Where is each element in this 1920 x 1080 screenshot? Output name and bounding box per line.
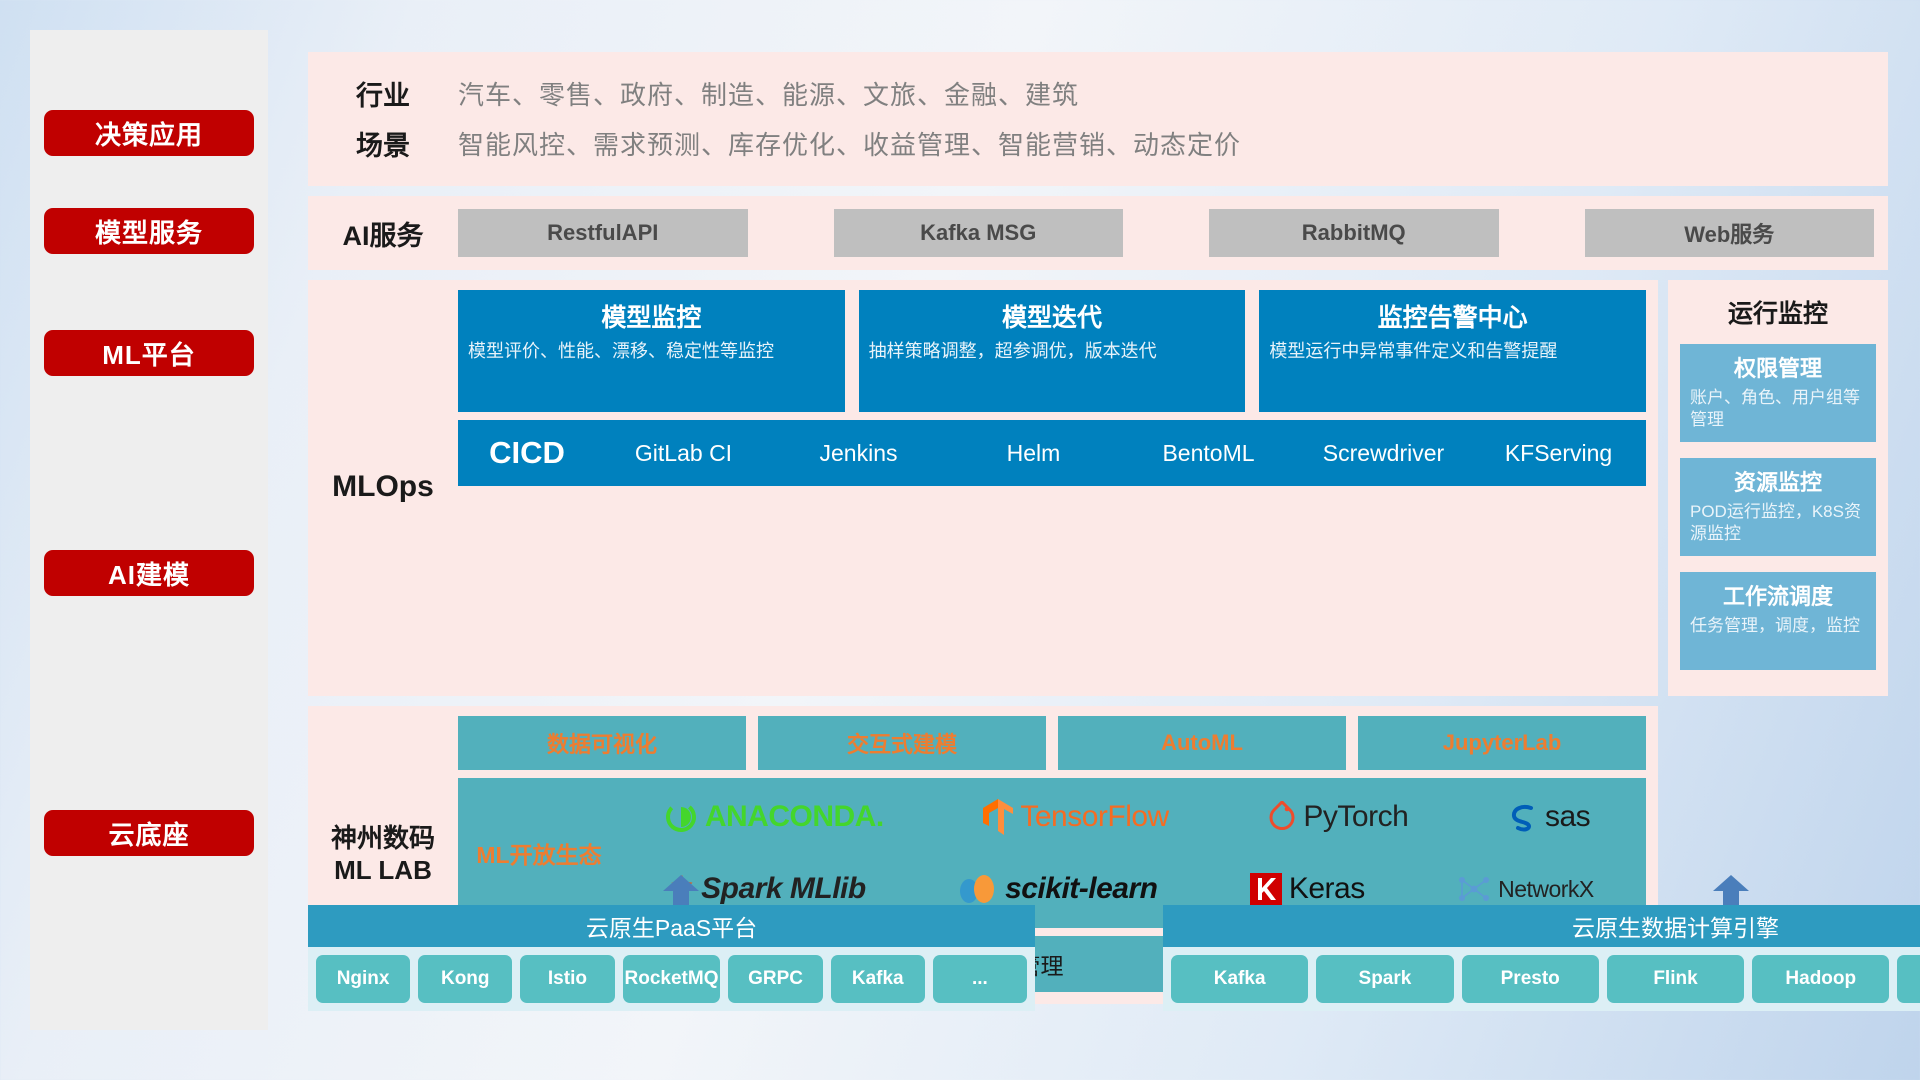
rail-item-ai-modeling[interactable]: AI建模 [44,550,254,596]
mlops-card-list: 模型监控 模型评价、性能、漂移、稳定性等监控 模型迭代 抽样策略调整，超参调优，… [458,290,1646,412]
mlops-title: MLOps [308,290,458,684]
keras-wordmark: Keras [1289,872,1365,906]
left-rail: 决策应用 模型服务 ML平台 AI建模 云底座 [30,30,268,1030]
mlops-card-title: 模型监控 [468,298,835,334]
sas-wordmark: sas [1545,800,1590,834]
paas-chip-more[interactable]: ... [933,955,1027,1003]
ecosystem-logo-row-1: ANACONDA. TensorFlow PyTorch [614,783,1640,851]
cloud-native-paas-title: 云原生PaaS平台 [308,905,1035,947]
paas-chip-kafka[interactable]: Kafka [831,955,925,1003]
scikit-learn-icon [958,872,998,906]
cicd-item-kfserving[interactable]: KFServing [1471,441,1646,465]
keras-icon [1250,873,1282,905]
monitor-card-title: 工作流调度 [1690,579,1866,611]
cicd-label: CICD [458,435,596,471]
anaconda-icon [664,800,698,834]
mlops-card-alert-center[interactable]: 监控告警中心 模型运行中异常事件定义和告警提醒 [1259,290,1646,412]
sas-icon [1508,802,1538,832]
paas-chip-istio[interactable]: Istio [520,955,614,1003]
scenario-key: 场景 [308,124,458,163]
rail-item-ml-platform[interactable]: ML平台 [44,330,254,376]
monitor-card-workflow[interactable]: 工作流调度 任务管理，调度，监控 [1680,572,1876,670]
pytorch-logo: PyTorch [1268,800,1408,834]
rail-label-text: ML平台 [102,335,196,372]
rail-item-decision-apps[interactable]: 决策应用 [44,110,254,156]
rail-label-text: 云底座 [108,815,189,852]
cloud-native-paas-column: 云原生PaaS平台 Nginx Kong Istio RocketMQ GRPC… [308,905,1035,1011]
ai-chip-web-service[interactable]: Web服务 [1585,209,1875,257]
ml-lab-title-line1: 神州数码 [331,822,435,855]
monitor-card-permission[interactable]: 权限管理 账户、角色、用户组等管理 [1680,344,1876,442]
mlops-row: MLOps 模型监控 模型评价、性能、漂移、稳定性等监控 模型迭代 抽样策略调整… [308,280,1888,696]
mlops-card-desc: 抽样策略调整，超参调优，版本迭代 [869,340,1236,364]
ai-chip-kafka-msg[interactable]: Kafka MSG [834,209,1124,257]
cicd-bar: CICD GitLab CI Jenkins Helm BentoML Scre… [458,420,1646,486]
tool-box-interactive-modeling[interactable]: 交互式建模 [758,716,1046,770]
ml-lab-title-line2: ML LAB [334,854,432,887]
monitor-card-desc: 任务管理，调度，监控 [1690,615,1866,637]
engine-chip-hadoop[interactable]: Hadoop [1752,955,1889,1003]
networkx-logo: NetworkX [1457,874,1594,904]
paas-chip-kong[interactable]: Kong [418,955,512,1003]
monitor-card-desc: POD运行监控，K8S资源监控 [1690,501,1866,545]
ml-open-ecosystem-label: ML开放生态 [464,836,614,870]
monitor-card-title: 资源监控 [1690,465,1866,497]
tensorflow-logo: TensorFlow [983,799,1168,835]
runtime-monitor-title: 运行监控 [1680,294,1876,330]
scenario-value: 智能风控、需求预测、库存优化、收益管理、智能营销、动态定价 [458,125,1241,162]
mlops-card-model-monitoring[interactable]: 模型监控 模型评价、性能、漂移、稳定性等监控 [458,290,845,412]
cicd-item-bentoml[interactable]: BentoML [1121,441,1296,465]
cicd-item-gitlab-ci[interactable]: GitLab CI [596,441,771,465]
mlops-band: MLOps 模型监控 模型评价、性能、漂移、稳定性等监控 模型迭代 抽样策略调整… [308,280,1658,696]
pytorch-wordmark: PyTorch [1303,800,1408,834]
ai-service-chip-list: RestfulAPI Kafka MSG RabbitMQ Web服务 [458,209,1888,257]
cloud-native-data-engine-column: 云原生数据计算引擎 Kafka Spark Presto Flink Hadoo… [1163,905,1920,1011]
ai-chip-restfulapi[interactable]: RestfulAPI [458,209,748,257]
mlops-card-title: 模型迭代 [869,298,1236,334]
rail-label-text: 模型服务 [95,213,203,250]
tensorflow-icon [983,799,1013,835]
mlops-card-title: 监控告警中心 [1269,298,1636,334]
tool-box-automl[interactable]: AutoML [1058,716,1346,770]
main-content: 行业 汽车、零售、政府、制造、能源、文旅、金融、建筑 场景 智能风控、需求预测、… [308,52,1888,1004]
paas-chip-grpc[interactable]: GRPC [728,955,822,1003]
ai-service-band: AI服务 RestfulAPI Kafka MSG RabbitMQ Web服务 [308,196,1888,270]
cicd-item-jenkins[interactable]: Jenkins [771,441,946,465]
scikit-learn-wordmark: scikit-learn [1005,872,1157,906]
industry-row: 行业 汽车、零售、政府、制造、能源、文旅、金融、建筑 [308,68,1888,118]
keras-logo: Keras [1250,872,1365,906]
industry-key: 行业 [308,74,458,113]
engine-chip-flink[interactable]: Flink [1607,955,1744,1003]
cicd-item-helm[interactable]: Helm [946,441,1121,465]
engine-chip-storm[interactable]: Storm [1897,955,1920,1003]
rail-label-text: 决策应用 [95,115,203,152]
anaconda-logo: ANACONDA. [664,800,884,834]
monitor-card-desc: 账户、角色、用户组等管理 [1690,387,1866,431]
tensorflow-wordmark: TensorFlow [1020,800,1168,834]
mlops-card-desc: 模型运行中异常事件定义和告警提醒 [1269,340,1636,364]
monitor-card-title: 权限管理 [1690,351,1866,383]
cicd-item-screwdriver[interactable]: Screwdriver [1296,441,1471,465]
scenario-row: 场景 智能风控、需求预测、库存优化、收益管理、智能营销、动态定价 [308,118,1888,168]
engine-chip-kafka[interactable]: Kafka [1171,955,1308,1003]
anaconda-wordmark: ANACONDA. [705,800,884,834]
ai-chip-rabbitmq[interactable]: RabbitMQ [1209,209,1499,257]
pytorch-icon [1268,801,1296,833]
runtime-monitor-panel: 运行监控 权限管理 账户、角色、用户组等管理 资源监控 POD运行监控，K8S资… [1668,280,1888,696]
industry-value: 汽车、零售、政府、制造、能源、文旅、金融、建筑 [458,75,1079,112]
tool-box-data-visualization[interactable]: 数据可视化 [458,716,746,770]
networkx-icon [1457,874,1491,904]
spark-mllib-wordmark: Spark MLlib [701,872,866,906]
monitor-card-resource[interactable]: 资源监控 POD运行监控，K8S资源监控 [1680,458,1876,556]
ecosystem-logo-grid: ANACONDA. TensorFlow PyTorch [614,783,1640,923]
paas-chip-rocketmq[interactable]: RocketMQ [623,955,721,1003]
engine-chip-spark[interactable]: Spark [1316,955,1453,1003]
cloud-native-paas-chip-list: Nginx Kong Istio RocketMQ GRPC Kafka ... [308,947,1035,1011]
decision-apps-band: 行业 汽车、零售、政府、制造、能源、文旅、金融、建筑 场景 智能风控、需求预测、… [308,52,1888,186]
cloud-native-data-engine-chip-list: Kafka Spark Presto Flink Hadoop Storm ..… [1163,947,1920,1011]
engine-chip-presto[interactable]: Presto [1462,955,1599,1003]
ai-service-title: AI服务 [308,214,458,253]
mlops-body: 模型监控 模型评价、性能、漂移、稳定性等监控 模型迭代 抽样策略调整，超参调优，… [458,290,1646,684]
scikit-learn-logo: scikit-learn [958,872,1157,906]
mlops-card-model-iteration[interactable]: 模型迭代 抽样策略调整，超参调优，版本迭代 [859,290,1246,412]
tool-box-list: 数据可视化 交互式建模 AutoML JupyterLab [458,716,1646,770]
paas-up-arrow [663,875,699,909]
cloud-native-data-engine-title: 云原生数据计算引擎 [1163,905,1920,947]
tool-box-jupyterlab[interactable]: JupyterLab [1358,716,1646,770]
paas-chip-nginx[interactable]: Nginx [316,955,410,1003]
cicd-item-list: GitLab CI Jenkins Helm BentoML Screwdriv… [596,441,1646,465]
sas-logo: sas [1508,800,1590,834]
rail-item-cloud-base[interactable]: 云底座 [44,810,254,856]
data-engine-up-arrow [1713,875,1749,909]
networkx-wordmark: NetworkX [1498,876,1594,903]
mlops-card-desc: 模型评价、性能、漂移、稳定性等监控 [468,340,835,364]
rail-label-text: AI建模 [108,555,190,592]
rail-item-model-service[interactable]: 模型服务 [44,208,254,254]
